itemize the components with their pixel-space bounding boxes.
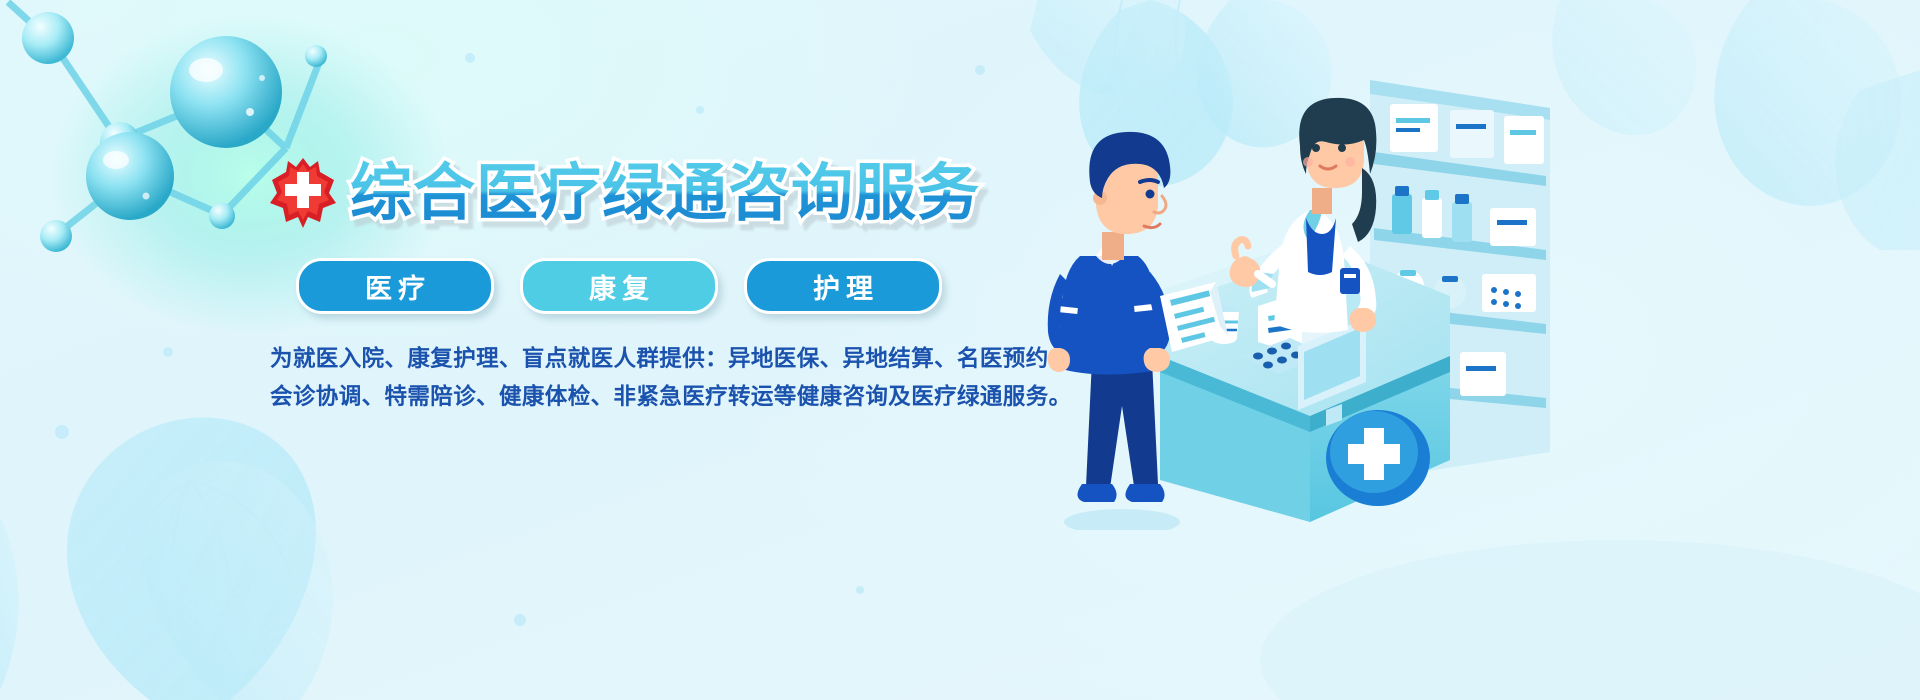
title-row: 综合医疗绿通咨询服务 综合医疗绿通咨询服务 综合医疗绿通咨询服务	[268, 150, 1008, 236]
pill-medical[interactable]: 医疗	[296, 258, 494, 314]
banner-content: 综合医疗绿通咨询服务 综合医疗绿通咨询服务 综合医疗绿通咨询服务 医疗 康复 护…	[268, 150, 1008, 420]
description-line-1: 为就医入院、康复护理、盲点就医人群提供：异地医保、异地结算、名医预约	[270, 344, 1008, 375]
category-pill-group: 医疗 康复 护理	[296, 258, 1008, 314]
pill-rehabilitation[interactable]: 康复	[520, 258, 718, 314]
pharmacy-counter-illustration	[1010, 60, 1570, 530]
healthcare-banner: 综合医疗绿通咨询服务 综合医疗绿通咨询服务 综合医疗绿通咨询服务 医疗 康复 护…	[0, 0, 1920, 700]
medical-cross-logo-icon	[268, 156, 338, 230]
description-line-2: 会诊协调、特需陪诊、健康体检、非紧急医疗转运等健康咨询及医疗绿通服务。	[270, 382, 1008, 413]
flower-right-edge	[1552, 0, 1920, 250]
description-block: 为就医入院、康复护理、盲点就医人群提供：异地医保、异地结算、名医预约 会诊协调、…	[270, 344, 1008, 413]
pill-nursing[interactable]: 护理	[744, 258, 942, 314]
counter-medical-cross-icon	[1326, 410, 1430, 506]
page-title: 综合医疗绿通咨询服务	[350, 156, 980, 230]
